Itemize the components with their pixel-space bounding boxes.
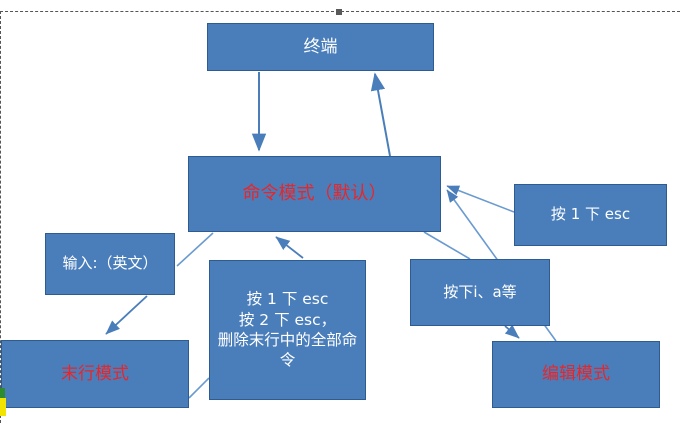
connector-last-line-mode-to-esc-detail	[189, 378, 209, 398]
connector-command-mode-to-input-english	[177, 233, 213, 266]
node-edit-mode-label: 编辑模式	[499, 363, 653, 385]
node-input-english-label: 输入:（英文）	[52, 254, 168, 274]
connector-command-mode-to-terminal	[375, 74, 390, 156]
color-fleck-yellow	[0, 398, 6, 416]
diagram-canvas: 终端 命令模式（默认） 输入:（英文） 末行模式 按 1 下 esc 按 2 下…	[0, 0, 680, 423]
node-esc-detail[interactable]: 按 1 下 esc 按 2 下 esc， 删除末行中的全部命令	[209, 260, 366, 400]
node-input-english[interactable]: 输入:（英文）	[45, 233, 175, 295]
node-press-ia[interactable]: 按下i、a等	[410, 259, 550, 326]
node-terminal[interactable]: 终端	[207, 23, 434, 71]
node-last-line-mode[interactable]: 末行模式	[1, 340, 189, 408]
selection-handle-top[interactable]	[336, 9, 342, 15]
connector-input-english-to-last-line-mode	[106, 296, 147, 334]
node-last-line-mode-label: 末行模式	[8, 363, 182, 385]
node-command-mode-label: 命令模式（默认）	[195, 182, 434, 206]
node-press-esc-once-label: 按 1 下 esc	[521, 205, 660, 225]
node-command-mode[interactable]: 命令模式（默认）	[188, 156, 441, 232]
node-edit-mode[interactable]: 编辑模式	[492, 341, 660, 408]
connector-press-esc-once-to-command-mode	[447, 186, 514, 212]
connector-command-mode-to-press-ia	[424, 232, 470, 259]
node-terminal-label: 终端	[214, 36, 427, 58]
connector-esc-detail-to-command-mode	[276, 237, 303, 258]
selection-left-border	[0, 11, 1, 423]
node-press-ia-label: 按下i、a等	[417, 283, 543, 303]
node-esc-detail-label: 按 1 下 esc 按 2 下 esc， 删除末行中的全部命令	[216, 289, 359, 371]
node-press-esc-once[interactable]: 按 1 下 esc	[514, 184, 667, 246]
connector-press-ia-to-edit-mode	[505, 326, 519, 338]
